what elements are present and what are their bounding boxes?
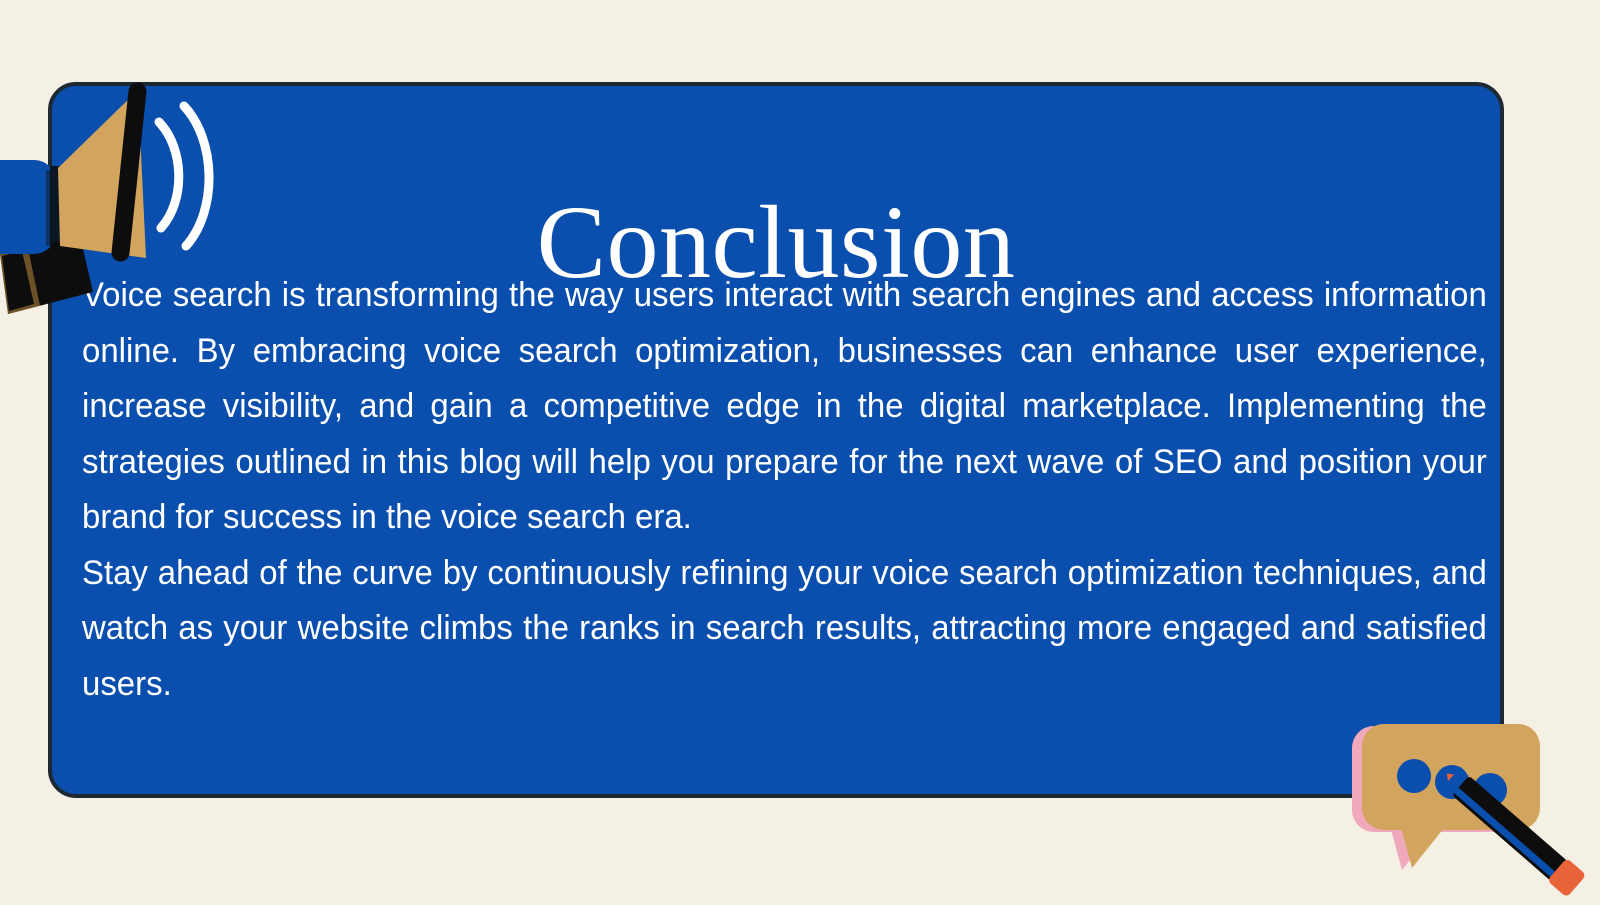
body-paragraph-2: Stay ahead of the curve by continuously … [82,546,1487,713]
content-card: Conclusion Voice search is transforming … [48,82,1504,798]
body-copy: Voice search is transforming the way use… [82,268,1488,712]
body-paragraph-1: Voice search is transforming the way use… [82,268,1487,546]
